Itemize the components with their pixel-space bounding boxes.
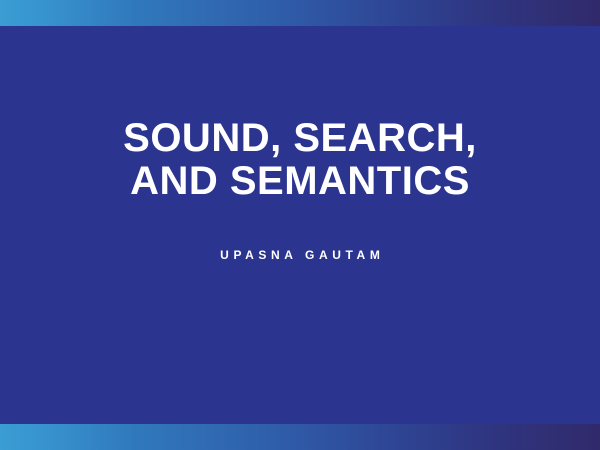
page-title-line-1: SOUND, SEARCH, [80, 117, 520, 160]
author-name: UPASNA GAUTAM [216, 248, 385, 262]
page-title: SOUND, SEARCH, AND SEMANTICS [80, 117, 520, 203]
title-slide: SOUND, SEARCH, AND SEMANTICS UPASNA GAUT… [0, 0, 600, 450]
bottom-accent-bar [0, 424, 600, 450]
slide-content: SOUND, SEARCH, AND SEMANTICS UPASNA GAUT… [0, 26, 600, 424]
top-accent-bar [0, 0, 600, 26]
page-title-line-2: AND SEMANTICS [80, 160, 520, 203]
